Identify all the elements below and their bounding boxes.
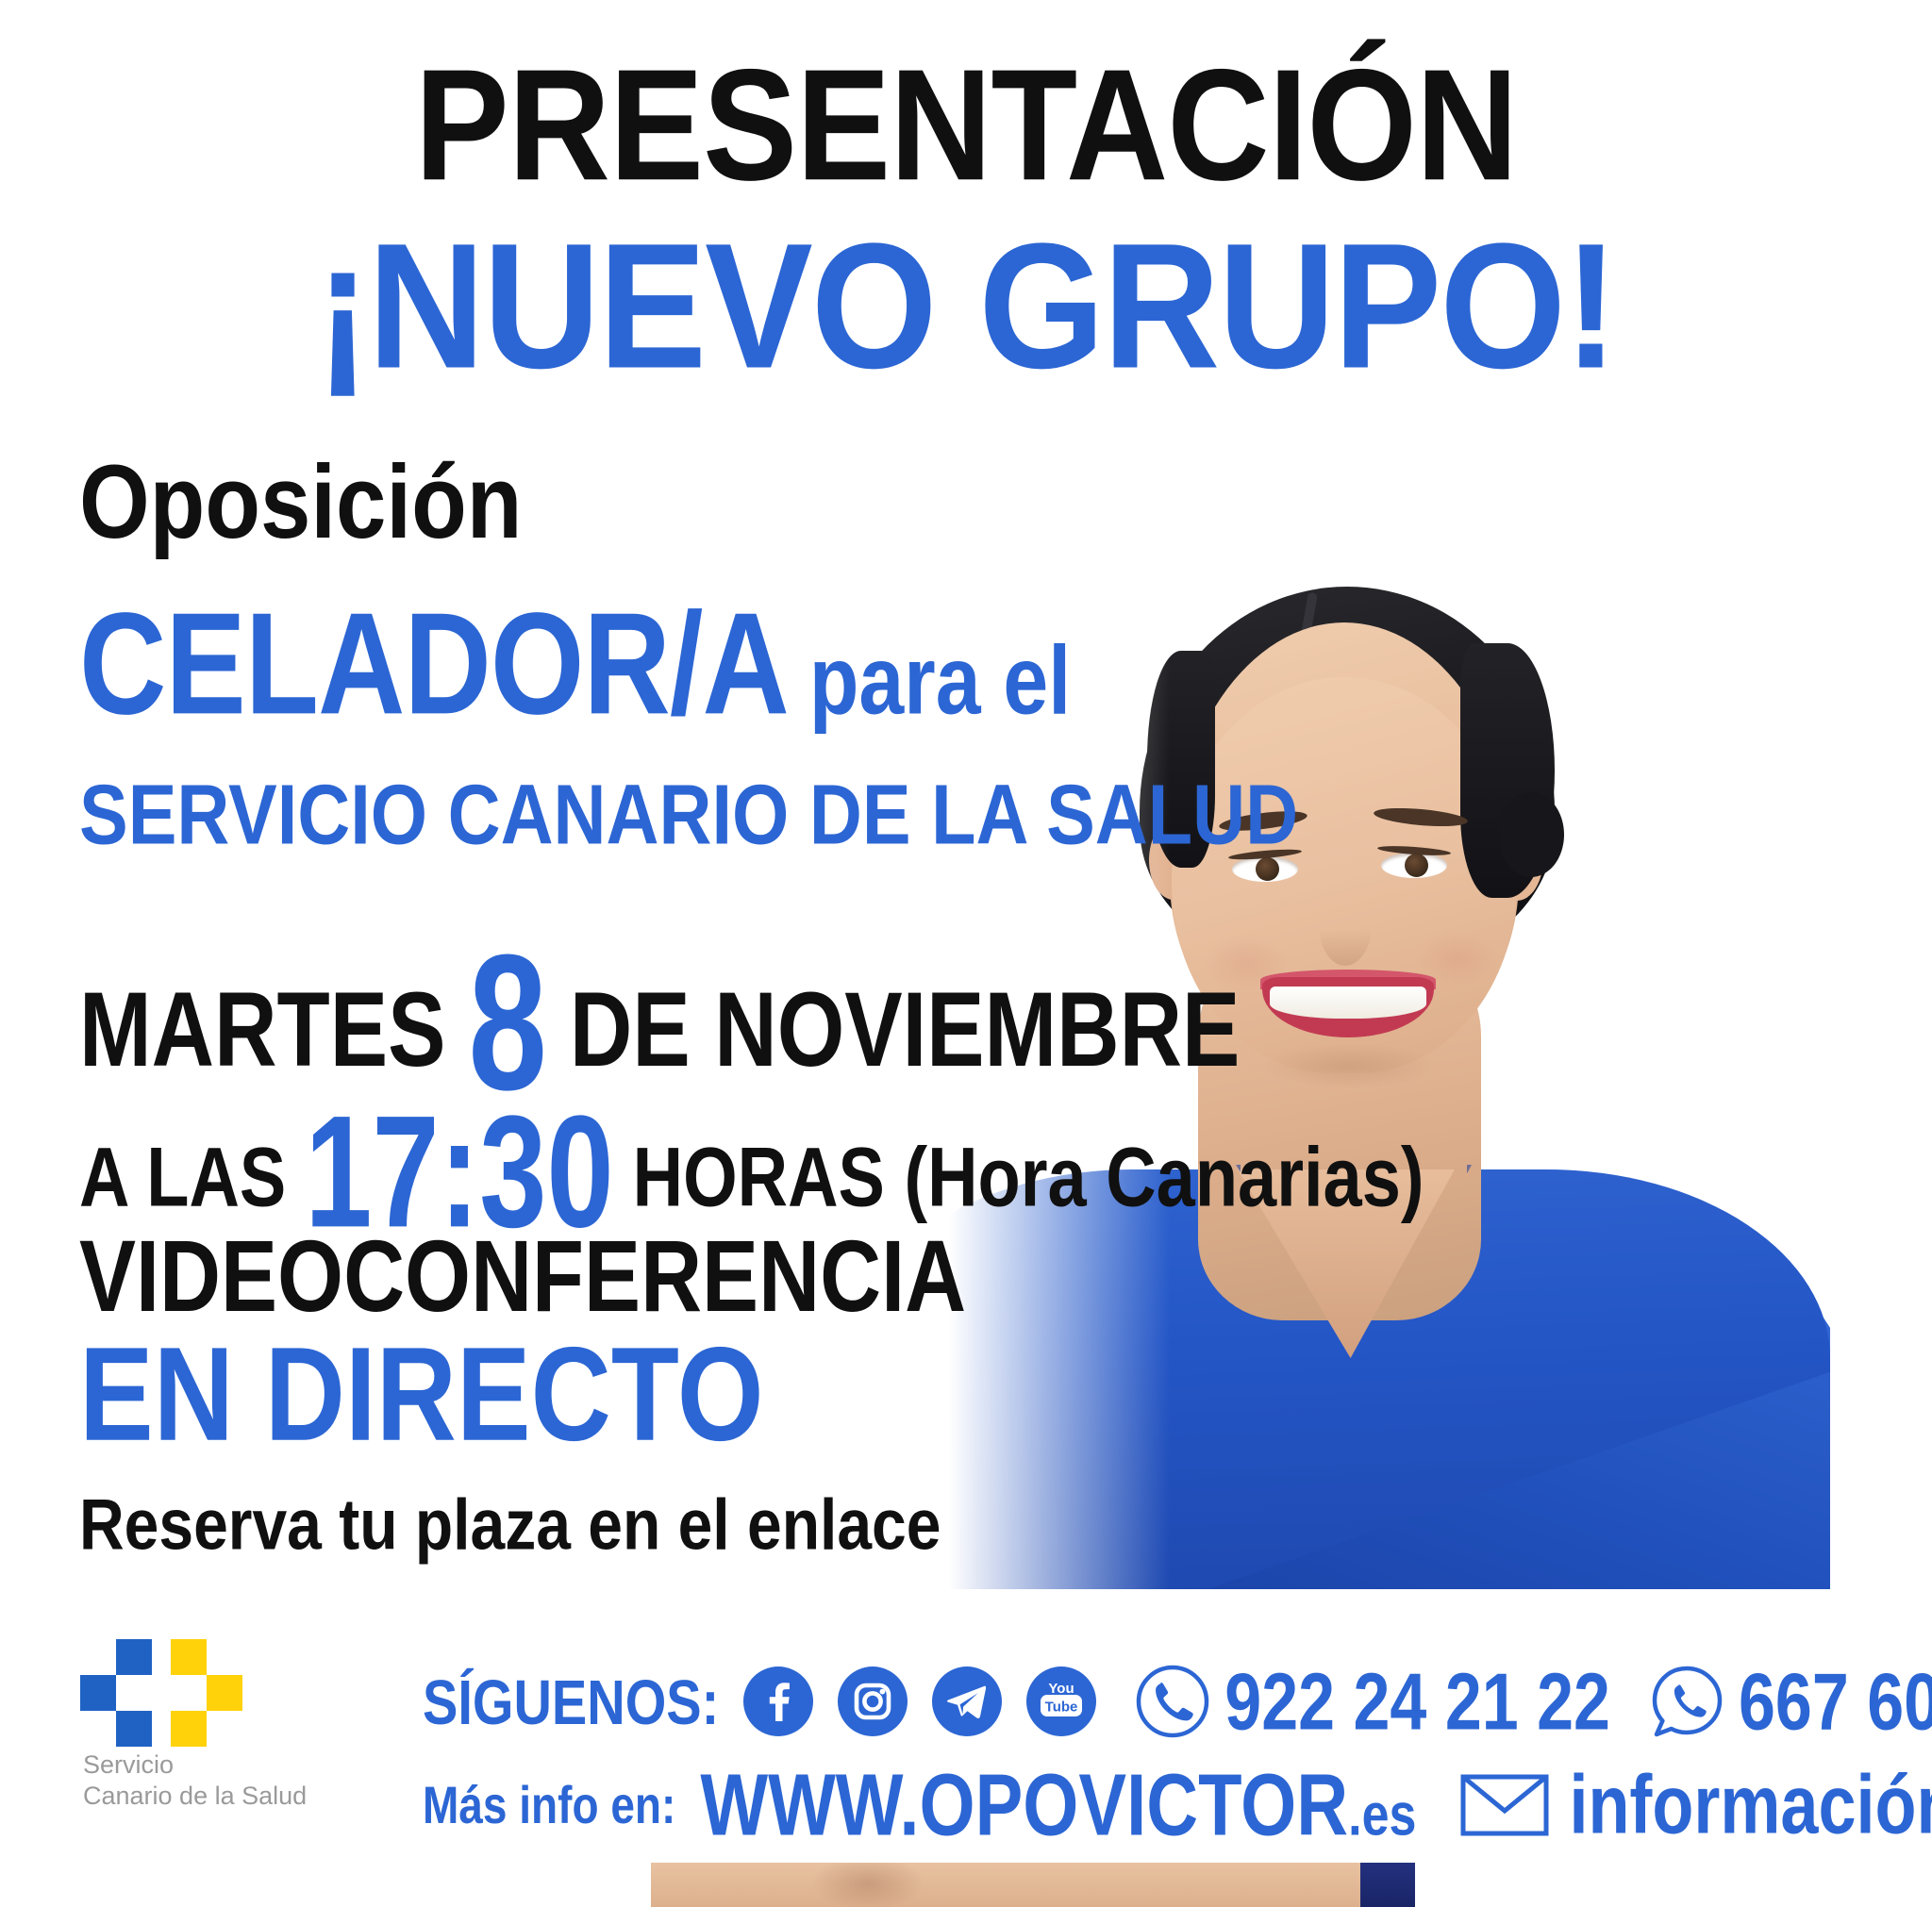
- footer-row-contact: Más info en: WWW.OPOVICTOR.es informació…: [423, 1762, 1932, 1849]
- headline-presentacion: PRESENTACIÓN: [0, 45, 1932, 204]
- scs-logo-icon: [80, 1639, 250, 1733]
- website-link[interactable]: WWW.OPOVICTOR.es: [700, 1755, 1416, 1855]
- youtube-icon[interactable]: You Tube: [1026, 1667, 1096, 1736]
- oposicion-label: Oposición: [79, 451, 522, 555]
- facebook-icon[interactable]: [743, 1667, 813, 1736]
- poster-canvas: PRESENTACIÓN ¡NUEVO GRUPO! Oposición CEL…: [0, 0, 1932, 1907]
- format-en-directo: EN DIRECTO: [79, 1328, 764, 1462]
- siguenos-label: SÍGUENOS:: [423, 1665, 719, 1738]
- footer-row-social: SÍGUENOS: You Tube: [423, 1656, 1932, 1747]
- phone-number: 922 24 21 22: [1224, 1655, 1610, 1748]
- whatsapp-number: 667 606 696: [1739, 1655, 1932, 1748]
- whatsapp-contact[interactable]: 667 606 696: [1648, 1663, 1932, 1740]
- iris-right: [1405, 854, 1428, 877]
- mas-info-label: Más info en:: [423, 1775, 675, 1836]
- time-line: A LAS 17:30 HORAS (Hora Canarias): [79, 1085, 1424, 1230]
- headline-nuevo-grupo: ¡NUEVO GRUPO!: [0, 217, 1932, 395]
- date-line: MARTES 8 DE NOVIEMBRE: [79, 920, 1240, 1092]
- organization-name: SERVICIO CANARIO DE LA SALUD: [79, 773, 1298, 858]
- role-title: CELADOR/A: [79, 592, 789, 738]
- phone-icon: [1134, 1663, 1211, 1740]
- bottom-photo-strip: [651, 1863, 1415, 1907]
- chin-shadow: [1264, 1043, 1434, 1088]
- svg-text:You: You: [1049, 1681, 1074, 1697]
- phone-contact[interactable]: 922 24 21 22: [1134, 1663, 1610, 1740]
- date-month: DE NOVIEMBRE: [570, 977, 1241, 1083]
- envelope-icon: [1459, 1771, 1550, 1839]
- website-main: WWW.OPOVICTOR: [700, 1756, 1348, 1854]
- email-contact[interactable]: información@opovictor.es: [1459, 1766, 1932, 1844]
- role-suffix: para el: [809, 632, 1071, 729]
- sleeve-cuff: [1360, 1863, 1415, 1907]
- nose: [1319, 885, 1372, 966]
- website-tld: .es: [1348, 1782, 1416, 1849]
- telegram-icon[interactable]: [932, 1667, 1002, 1736]
- date-weekday: MARTES: [79, 977, 445, 1083]
- teeth: [1270, 987, 1426, 1019]
- time-suffix: HORAS (Hora Canarias): [633, 1136, 1424, 1219]
- format-videoconferencia: VIDEOCONFERENCIA: [79, 1226, 966, 1328]
- time-prefix: A LAS: [79, 1136, 286, 1219]
- scs-logo-caption: Servicio Canario de la Salud: [83, 1749, 307, 1812]
- hair-bun: [1498, 792, 1564, 877]
- svg-text:Tube: Tube: [1045, 1700, 1078, 1716]
- role-line: CELADOR/A para el: [79, 592, 1071, 738]
- cta-text: Reserva tu plaza en el enlace: [79, 1488, 941, 1560]
- whatsapp-icon: [1648, 1663, 1725, 1740]
- email-address: información@opovictor.es: [1569, 1758, 1932, 1852]
- arm-crease: [811, 1863, 924, 1907]
- instagram-icon[interactable]: [838, 1667, 908, 1736]
